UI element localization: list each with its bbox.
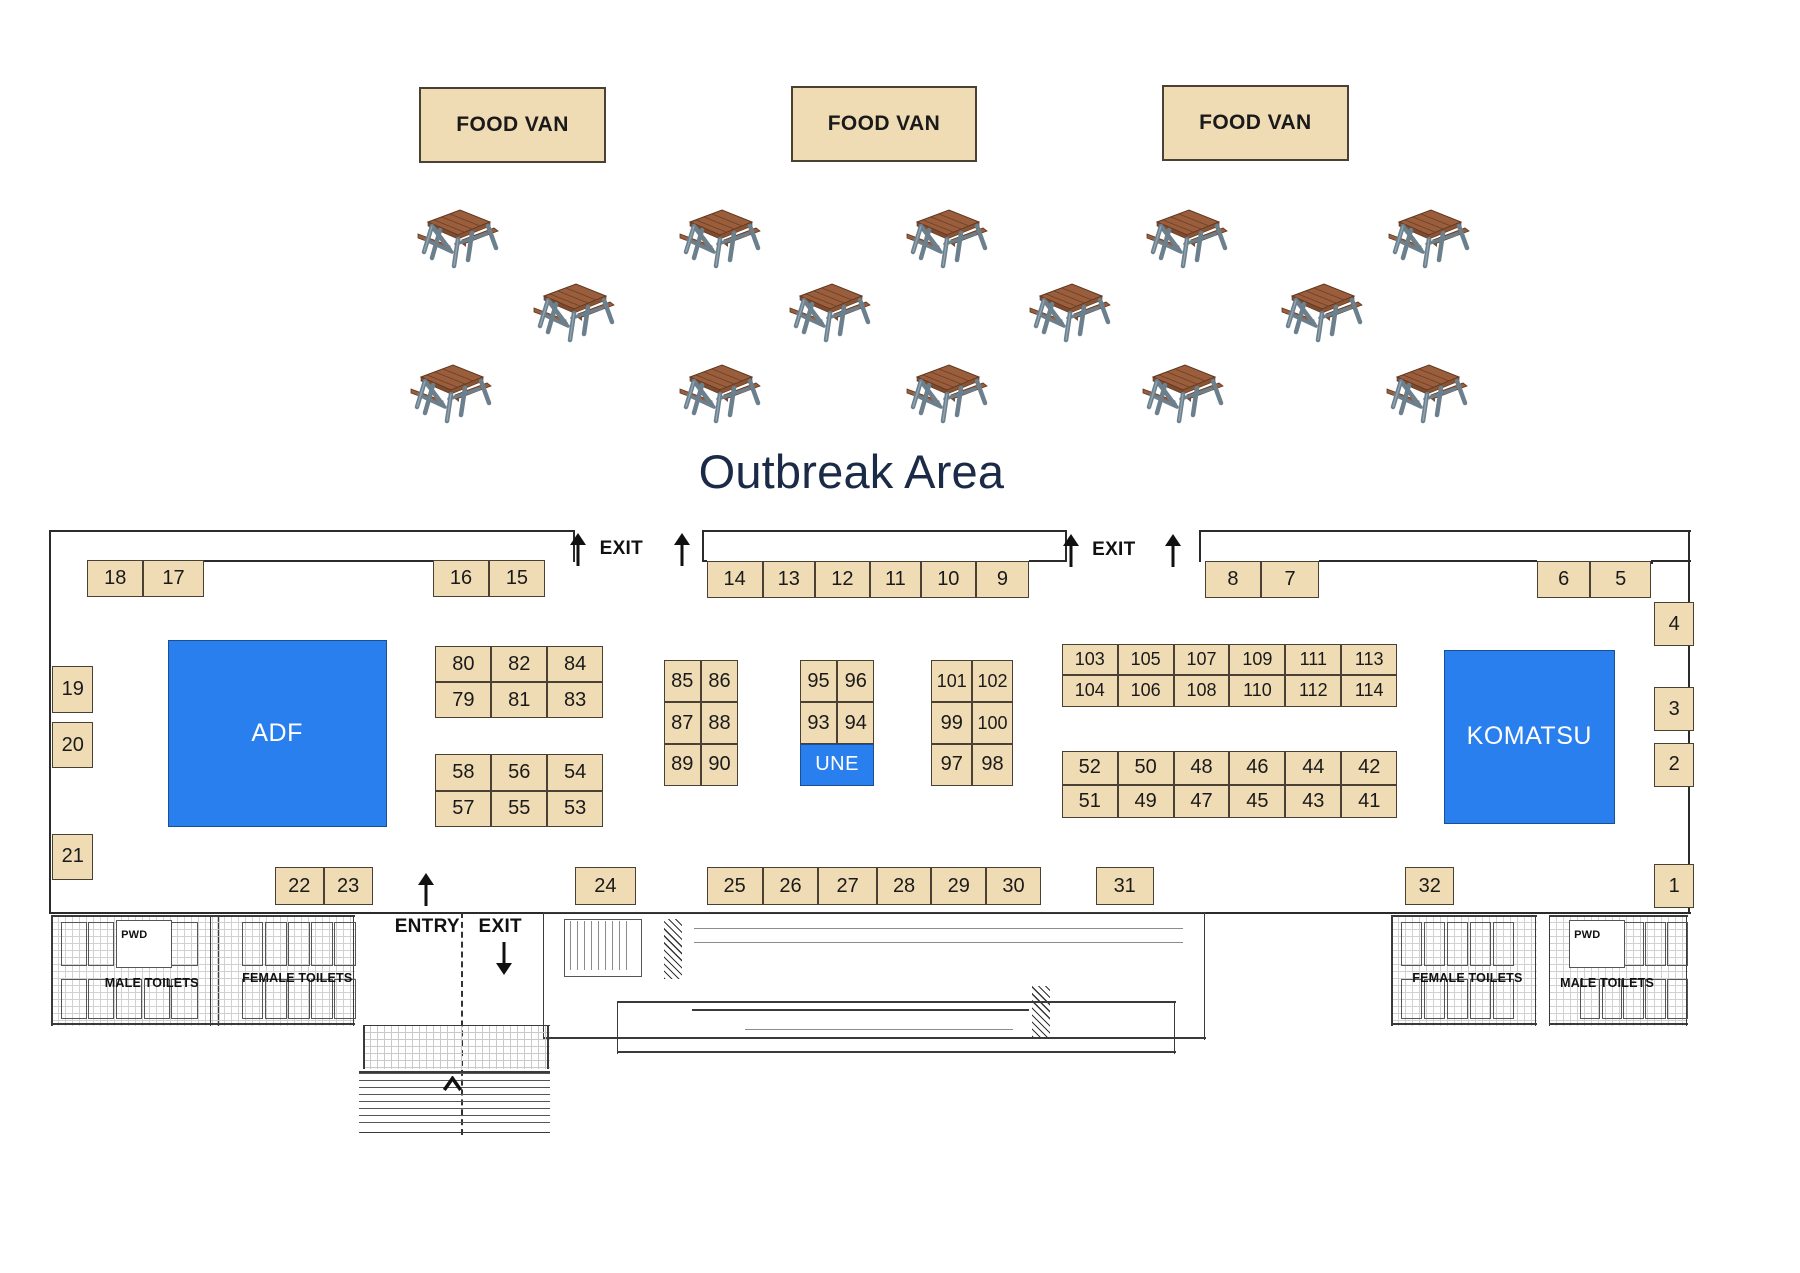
hall-wall xyxy=(1029,560,1065,562)
booth-79[interactable]: 79 xyxy=(435,682,491,718)
booth-109[interactable]: 109 xyxy=(1229,644,1285,675)
arrow-up-icon xyxy=(417,873,435,907)
booth-7[interactable]: 7 xyxy=(1261,561,1319,598)
room-label-male-toilets: MALE TOILETS xyxy=(105,976,199,990)
ramp-step xyxy=(359,1101,550,1102)
booth-111[interactable]: 111 xyxy=(1285,644,1341,675)
hall-wall xyxy=(49,530,51,914)
food-van-1: FOOD VAN xyxy=(419,87,606,163)
booth-94[interactable]: 94 xyxy=(837,702,874,744)
booth-102[interactable]: 102 xyxy=(972,660,1013,702)
toilet-stall xyxy=(1667,979,1687,1019)
toilet-stall xyxy=(1493,922,1515,966)
plan-wall xyxy=(547,1025,548,1069)
plan-wall xyxy=(51,915,52,1026)
hall-wall xyxy=(1199,530,1690,532)
lower-room-block xyxy=(617,1001,1176,1053)
booth-16[interactable]: 16 xyxy=(433,560,489,597)
booth-30[interactable]: 30 xyxy=(986,867,1041,904)
booth-26[interactable]: 26 xyxy=(763,867,819,904)
booth-29[interactable]: 29 xyxy=(931,867,986,904)
corridor-line xyxy=(694,942,1183,943)
booth-56[interactable]: 56 xyxy=(491,754,547,790)
marker-entry-3: ENTRY xyxy=(395,916,460,938)
arrow-up-icon xyxy=(1062,534,1080,568)
toilet-stall xyxy=(1447,922,1469,966)
picnic-table-icon xyxy=(782,274,874,352)
arrow-up-icon xyxy=(569,533,587,567)
booth-58[interactable]: 58 xyxy=(435,754,491,790)
booth-50[interactable]: 50 xyxy=(1118,751,1174,785)
plan-wall xyxy=(210,915,211,1026)
picnic-table-icon xyxy=(1379,355,1471,433)
ramp-grid xyxy=(363,1025,549,1069)
picnic-table-icon xyxy=(1135,355,1227,433)
booth-52[interactable]: 52 xyxy=(1062,751,1118,785)
pwd-cubicle-right xyxy=(1569,920,1625,969)
toilet-stall xyxy=(288,979,310,1019)
toilet-stall xyxy=(1470,979,1492,1019)
plan-wall xyxy=(617,1001,1176,1002)
toilet-stall xyxy=(1470,922,1492,966)
booth-82[interactable]: 82 xyxy=(491,646,547,682)
booth-98[interactable]: 98 xyxy=(972,744,1013,786)
room-label-pwd: PWD xyxy=(1574,929,1600,941)
plan-wall xyxy=(617,1001,618,1053)
booth-57[interactable]: 57 xyxy=(435,791,491,827)
booth-47[interactable]: 47 xyxy=(1174,785,1230,819)
hall-wall xyxy=(1319,560,1537,562)
booth-85[interactable]: 85 xyxy=(664,660,701,702)
toilet-stall xyxy=(242,979,264,1019)
booth-9[interactable]: 9 xyxy=(976,561,1030,598)
toilet-stall xyxy=(1447,979,1469,1019)
booth-10[interactable]: 10 xyxy=(921,561,976,598)
stair-enclosure xyxy=(564,919,643,977)
toilet-stall xyxy=(265,979,287,1019)
booth-89[interactable]: 89 xyxy=(664,744,701,786)
hall-wall xyxy=(702,530,1065,532)
booth-88[interactable]: 88 xyxy=(701,702,738,744)
booth-87[interactable]: 87 xyxy=(664,702,701,744)
booth-15[interactable]: 15 xyxy=(489,560,545,597)
booth-8[interactable]: 8 xyxy=(1205,561,1261,598)
picnic-table-icon xyxy=(1022,274,1114,352)
plan-wall xyxy=(1204,912,1205,1040)
venue-floorplan: FOOD VANFOOD VANFOOD VAN xyxy=(0,0,1800,1273)
marker-exit-2: EXIT xyxy=(1092,539,1135,561)
hall-wall xyxy=(204,560,433,562)
booth-23[interactable]: 23 xyxy=(324,867,373,904)
hall-wall xyxy=(49,530,573,532)
booth-17[interactable]: 17 xyxy=(143,560,204,597)
plan-wall xyxy=(359,1071,550,1072)
booth-46[interactable]: 46 xyxy=(1229,751,1285,785)
booth-45[interactable]: 45 xyxy=(1229,785,1285,819)
plan-wall xyxy=(543,912,1207,913)
booth-5[interactable]: 5 xyxy=(1590,561,1651,598)
booth-113[interactable]: 113 xyxy=(1341,644,1397,675)
plan-wall xyxy=(1535,915,1536,1026)
booth-1[interactable]: 1 xyxy=(1654,864,1694,908)
booth-44[interactable]: 44 xyxy=(1285,751,1341,785)
booth-83[interactable]: 83 xyxy=(547,682,603,718)
plan-wall xyxy=(359,1132,550,1133)
booth-18[interactable]: 18 xyxy=(87,560,143,597)
toilet-stall xyxy=(1424,922,1446,966)
room-label-female-toilets: FEMALE TOILETS xyxy=(242,971,352,985)
food-van-label: FOOD VAN xyxy=(1199,111,1311,135)
booth-48[interactable]: 48 xyxy=(1174,751,1230,785)
arrow-up-icon xyxy=(673,533,691,567)
toilet-stall xyxy=(1424,979,1446,1019)
booth-114[interactable]: 114 xyxy=(1341,675,1397,706)
plan-wall xyxy=(1391,915,1537,916)
booth-31[interactable]: 31 xyxy=(1096,867,1154,904)
booth-11[interactable]: 11 xyxy=(870,561,921,598)
booth-14[interactable]: 14 xyxy=(707,561,763,598)
booth-105[interactable]: 105 xyxy=(1118,644,1174,675)
toilet-stall xyxy=(334,979,356,1019)
picnic-table-icon xyxy=(899,355,991,433)
room-label-pwd: PWD xyxy=(121,929,147,941)
plan-wall xyxy=(1174,1001,1175,1053)
booth-90[interactable]: 90 xyxy=(701,744,738,786)
plan-wall xyxy=(51,915,220,916)
toilet-stall xyxy=(265,922,287,966)
plan-wall xyxy=(1549,915,1689,916)
booth-41[interactable]: 41 xyxy=(1341,785,1397,819)
plan-wall xyxy=(1391,1023,1537,1024)
booth-104[interactable]: 104 xyxy=(1062,675,1118,706)
booth-80[interactable]: 80 xyxy=(435,646,491,682)
booth-22[interactable]: 22 xyxy=(275,867,324,904)
booth-4[interactable]: 4 xyxy=(1654,602,1694,646)
hatched-wall xyxy=(664,919,683,980)
booth-112[interactable]: 112 xyxy=(1285,675,1341,706)
booth-21[interactable]: 21 xyxy=(52,834,93,881)
plan-wall xyxy=(1549,1023,1689,1024)
page-title: Outbreak Area xyxy=(699,444,1005,499)
hall-wall xyxy=(1199,530,1201,563)
toilet-stall xyxy=(242,922,264,966)
sponsor-une[interactable]: UNE xyxy=(800,744,875,786)
booth-93[interactable]: 93 xyxy=(800,702,837,744)
booth-24[interactable]: 24 xyxy=(575,867,636,904)
food-van-3: FOOD VAN xyxy=(1162,85,1349,161)
toilet-stall xyxy=(1401,922,1423,966)
toilet-stall xyxy=(61,922,87,966)
booth-81[interactable]: 81 xyxy=(491,682,547,718)
booth-13[interactable]: 13 xyxy=(763,561,815,598)
picnic-table-icon xyxy=(403,355,495,433)
ramp-step xyxy=(359,1108,550,1109)
booth-106[interactable]: 106 xyxy=(1118,675,1174,706)
plan-wall xyxy=(617,1051,1176,1052)
booth-6[interactable]: 6 xyxy=(1537,561,1591,598)
booth-100[interactable]: 100 xyxy=(972,702,1013,744)
arrow-up-icon xyxy=(1164,534,1182,568)
toilet-stall xyxy=(61,979,87,1019)
toilet-stall xyxy=(1645,922,1665,966)
plan-wall xyxy=(543,912,544,1040)
toilet-stall xyxy=(311,922,333,966)
booth-49[interactable]: 49 xyxy=(1118,785,1174,819)
booth-20[interactable]: 20 xyxy=(52,722,93,769)
picnic-table-icon xyxy=(1139,200,1231,278)
booth-107[interactable]: 107 xyxy=(1174,644,1230,675)
marker-exit-1: EXIT xyxy=(600,538,643,560)
toilet-stall xyxy=(1667,922,1687,966)
booth-28[interactable]: 28 xyxy=(877,867,932,904)
booth-86[interactable]: 86 xyxy=(701,660,738,702)
plan-wall xyxy=(210,915,356,916)
booth-55[interactable]: 55 xyxy=(491,791,547,827)
plan-wall xyxy=(363,1025,364,1069)
food-van-label: FOOD VAN xyxy=(456,113,568,137)
toilet-stall xyxy=(311,979,333,1019)
marker-exit-4: EXIT xyxy=(479,916,522,938)
entrance-ramp xyxy=(349,1025,559,1141)
ramp-step xyxy=(359,1122,550,1123)
booth-43[interactable]: 43 xyxy=(1285,785,1341,819)
corridor-line xyxy=(694,928,1183,929)
toilet-stall xyxy=(88,922,114,966)
booth-103[interactable]: 103 xyxy=(1062,644,1118,675)
toilet-stall xyxy=(171,922,197,966)
hall-wall xyxy=(1651,560,1691,562)
booth-42[interactable]: 42 xyxy=(1341,751,1397,785)
arrow-down-icon xyxy=(495,941,513,975)
toilet-stall xyxy=(1401,979,1423,1019)
plan-wall xyxy=(363,1025,549,1026)
booth-53[interactable]: 53 xyxy=(547,791,603,827)
picnic-table-icon xyxy=(526,274,618,352)
booth-99[interactable]: 99 xyxy=(931,702,972,744)
ramp-step xyxy=(359,1094,550,1095)
toilet-stall xyxy=(1623,922,1643,966)
booth-54[interactable]: 54 xyxy=(547,754,603,790)
plan-wall xyxy=(51,1023,220,1024)
food-van-2: FOOD VAN xyxy=(791,86,978,162)
plan-wall xyxy=(1391,915,1392,1026)
booth-95[interactable]: 95 xyxy=(800,660,837,702)
booth-19[interactable]: 19 xyxy=(52,666,93,713)
booth-32[interactable]: 32 xyxy=(1405,867,1454,904)
pwd-cubicle-left xyxy=(116,920,172,969)
booth-84[interactable]: 84 xyxy=(547,646,603,682)
picnic-table-icon xyxy=(1274,274,1366,352)
booth-27[interactable]: 27 xyxy=(818,867,876,904)
booth-97[interactable]: 97 xyxy=(931,744,972,786)
picnic-table-icon xyxy=(672,200,764,278)
toilet-stall xyxy=(288,922,310,966)
booth-110[interactable]: 110 xyxy=(1229,675,1285,706)
room-label-female-toilets: FEMALE TOILETS xyxy=(1412,971,1522,985)
picnic-table-icon xyxy=(1381,200,1473,278)
ramp-step xyxy=(359,1073,550,1074)
picnic-table-icon xyxy=(410,200,502,278)
toilet-stall xyxy=(334,922,356,966)
picnic-table-icon xyxy=(899,200,991,278)
toilet-stall xyxy=(1493,979,1515,1019)
food-van-label: FOOD VAN xyxy=(828,112,940,136)
plan-wall xyxy=(1549,915,1550,1026)
ramp-up-arrow-icon xyxy=(442,1076,463,1092)
booth-3[interactable]: 3 xyxy=(1654,687,1694,731)
hall-wall xyxy=(702,530,704,563)
picnic-table-icon xyxy=(672,355,764,433)
booth-51[interactable]: 51 xyxy=(1062,785,1118,819)
room-label-male-toilets: MALE TOILETS xyxy=(1560,976,1654,990)
booth-96[interactable]: 96 xyxy=(837,660,874,702)
booth-25[interactable]: 25 xyxy=(707,867,763,904)
plan-wall xyxy=(210,1023,356,1024)
booth-101[interactable]: 101 xyxy=(931,660,972,702)
booth-12[interactable]: 12 xyxy=(815,561,870,598)
ramp-step xyxy=(359,1115,550,1116)
sponsor-komatsu[interactable]: KOMATSU xyxy=(1444,650,1615,825)
sponsor-adf[interactable]: ADF xyxy=(168,640,387,826)
room-divider xyxy=(745,1029,1013,1030)
booth-108[interactable]: 108 xyxy=(1174,675,1230,706)
booth-2[interactable]: 2 xyxy=(1654,743,1694,787)
